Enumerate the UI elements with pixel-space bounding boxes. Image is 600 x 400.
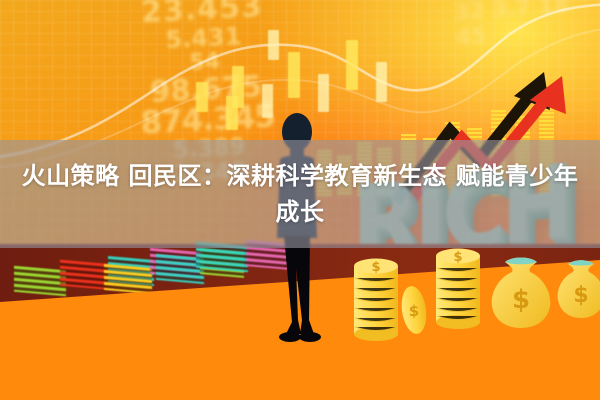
svg-text:$: $	[573, 283, 588, 308]
ledge-stripe-bar	[14, 266, 66, 297]
coin-stack-right: $	[436, 249, 480, 330]
candlestick	[268, 30, 279, 60]
money-group: $ $ $ $	[340, 248, 600, 358]
standing-coin: $	[399, 285, 429, 336]
svg-text:$: $	[409, 302, 419, 320]
coin-stack-left: $	[354, 259, 398, 342]
page-title: 火山策略 回民区：深耕科学教育新生态 赋能青少年成长	[0, 140, 600, 248]
ledge-stripe-bar	[104, 264, 152, 294]
money-bag: $	[492, 258, 551, 329]
banner-image: 23.453 5.431 54 98.675 874.345 5.389 2.3…	[0, 0, 600, 400]
money-bag: $	[558, 260, 600, 318]
svg-text:$: $	[371, 260, 380, 275]
candlestick	[196, 82, 208, 112]
candlestick	[226, 96, 238, 130]
svg-text:$: $	[453, 250, 462, 265]
svg-text:$: $	[512, 285, 530, 315]
